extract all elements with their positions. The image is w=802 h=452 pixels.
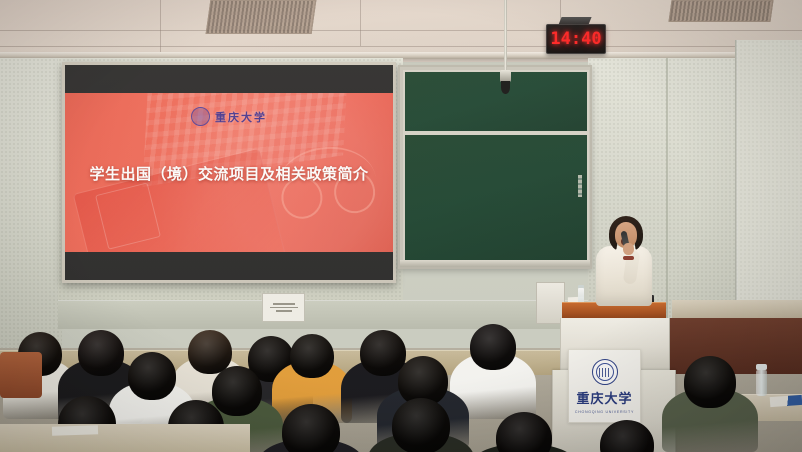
screen-letterbox-bottom — [65, 252, 393, 280]
wall-seam — [666, 58, 668, 358]
lectern-logo-english: CHONGQING UNIVERSITY — [575, 410, 634, 414]
wall-baseboard — [58, 300, 588, 329]
student-head — [684, 356, 736, 408]
water-bottle — [756, 370, 767, 396]
ceiling-mic-icon — [501, 81, 510, 94]
student-head — [78, 330, 124, 376]
presenter-hand — [623, 243, 634, 255]
projection-screen: 重庆大学 学生出国（境）交流项目及相关政策简介 — [62, 62, 396, 283]
chalk-tray — [400, 260, 590, 267]
lecture-hall-photo: 重庆大学 学生出国（境）交流项目及相关政策简介 14:40 — [0, 0, 802, 452]
university-emblem-icon — [191, 107, 210, 126]
slide-title: 学生出国（境）交流项目及相关政策简介 — [65, 163, 393, 184]
ceiling-vent-icon — [206, 0, 317, 34]
student-head — [392, 398, 450, 452]
presenter-bracelet — [623, 256, 634, 260]
chalk-marks — [578, 175, 582, 197]
ceiling-vent-icon — [668, 0, 773, 22]
student-head — [470, 324, 516, 370]
lectern-university-plaque: 重庆大学 CHONGQING UNIVERSITY — [568, 349, 641, 423]
lectern-logo-chinese: 重庆大学 — [576, 388, 632, 407]
university-emblem-icon — [592, 359, 618, 385]
wall-notice-sign — [262, 293, 305, 322]
presentation-slide: 重庆大学 学生出国（境）交流项目及相关政策简介 — [65, 93, 393, 252]
student-head — [360, 330, 406, 376]
screen-letterbox-top — [65, 65, 393, 93]
student-head — [212, 366, 262, 416]
blackboard — [398, 65, 592, 269]
student-head — [128, 352, 176, 400]
blackboard-panel-upper — [403, 70, 589, 133]
slide-university-logo: 重庆大学 — [191, 107, 267, 126]
slide-logo-label: 重庆大学 — [215, 109, 267, 125]
side-desk — [672, 300, 802, 318]
student-head — [282, 404, 340, 452]
digital-clock: 14:40 — [546, 24, 606, 54]
student-head — [290, 334, 334, 378]
wall-panel-left — [0, 58, 62, 348]
chair — [0, 352, 42, 398]
ceiling-mic-wire — [504, 0, 507, 72]
handout-papers — [52, 425, 98, 436]
clock-time-display: 14:40 — [550, 29, 601, 49]
front-left-desk — [0, 424, 250, 452]
blackboard-panel-lower — [403, 133, 589, 262]
